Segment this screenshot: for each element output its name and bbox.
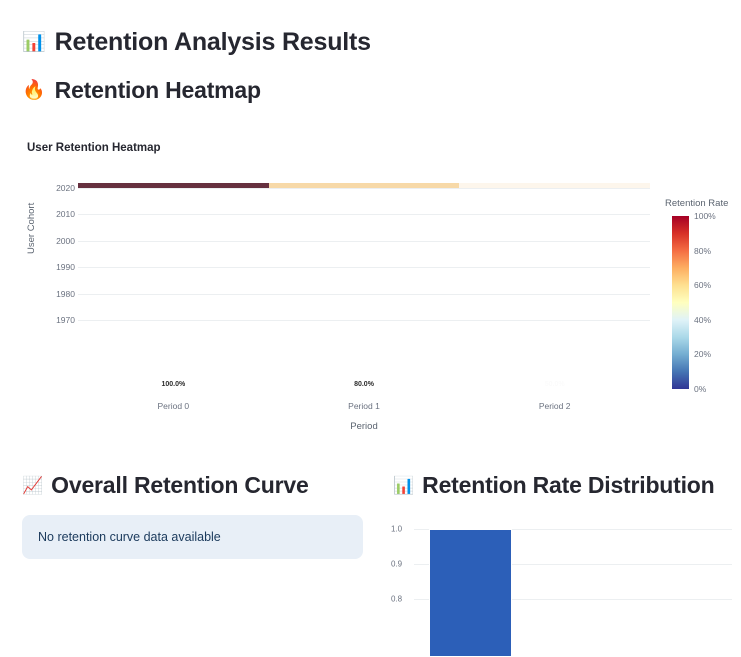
heatmap-gridline xyxy=(78,188,650,189)
heatmap-y-tick: 1990 xyxy=(56,262,75,272)
colorbar-tick: 80% xyxy=(694,246,711,256)
colorbar-title: Retention Rate xyxy=(665,198,728,209)
heatmap-gridline xyxy=(78,241,650,242)
histogram-y-tick: 0.8 xyxy=(391,595,402,604)
empty-message-text: No retention curve data available xyxy=(38,530,221,544)
heatmap-cell xyxy=(78,183,269,188)
heatmap-plot-area xyxy=(78,188,650,320)
heatmap-y-tick: 2000 xyxy=(56,236,75,246)
page-title-row: 📊 Retention Analysis Results xyxy=(0,28,371,57)
heatmap-gridline xyxy=(78,214,650,215)
retention-distribution-section: 📊 Retention Rate Distribution 1.00.90.8 xyxy=(385,472,741,499)
histogram-y-tick: 0.9 xyxy=(391,560,402,569)
distribution-heading: Retention Rate Distribution xyxy=(422,472,714,499)
retention-curve-heading: Overall Retention Curve xyxy=(51,472,308,499)
heatmap-y-tick: 2020 xyxy=(56,183,75,193)
retention-distribution-chart[interactable]: 1.00.90.8 xyxy=(385,512,741,574)
heatmap-cell-value: 80.0% xyxy=(354,381,374,388)
histogram-bar[interactable] xyxy=(429,529,512,657)
distribution-heading-row: 📊 Retention Rate Distribution xyxy=(385,472,741,499)
heatmap-chart-title: User Retention Heatmap xyxy=(27,142,161,154)
heatmap-x-tick: Period 2 xyxy=(539,401,571,411)
fire-icon: 🔥 xyxy=(22,81,46,100)
bar-chart-icon: 📊 xyxy=(393,477,414,494)
heatmap-cell-value: 100.0% xyxy=(161,381,185,388)
retention-curve-section: 📈 Overall Retention Curve No retention c… xyxy=(0,472,385,559)
heatmap-x-tick: Period 0 xyxy=(157,401,189,411)
colorbar-tick: 0% xyxy=(694,384,706,394)
colorbar-tick: 100% xyxy=(694,211,716,221)
retention-curve-empty-message: No retention curve data available xyxy=(22,515,363,559)
retention-curve-heading-row: 📈 Overall Retention Curve xyxy=(0,472,385,499)
colorbar-gradient xyxy=(672,216,689,389)
heatmap-x-tick: Period 1 xyxy=(348,401,380,411)
colorbar-tick: 60% xyxy=(694,280,711,290)
heatmap-y-tick: 1980 xyxy=(56,289,75,299)
heatmap-section-heading: Retention Heatmap xyxy=(55,77,261,104)
retention-heatmap-chart[interactable]: User Retention Heatmap User Cohort Perio… xyxy=(0,132,741,442)
heatmap-y-axis-label: User Cohort xyxy=(26,203,37,254)
heatmap-y-tick: 2010 xyxy=(56,209,75,219)
bar-chart-icon: 📊 xyxy=(22,33,46,52)
colorbar-tick: 20% xyxy=(694,349,711,359)
heatmap-y-tick: 1970 xyxy=(56,315,75,325)
page-title: Retention Analysis Results xyxy=(55,28,371,57)
histogram-y-tick: 1.0 xyxy=(391,525,402,534)
heatmap-gridline xyxy=(78,267,650,268)
heatmap-row xyxy=(78,183,650,188)
heatmap-section-heading-row: 🔥 Retention Heatmap xyxy=(0,77,261,104)
heatmap-gridline xyxy=(78,294,650,295)
heatmap-cell-value: 50.0% xyxy=(545,381,565,388)
heatmap-cell xyxy=(269,183,460,188)
line-chart-icon: 📈 xyxy=(22,477,43,494)
colorbar-tick: 40% xyxy=(694,315,711,325)
heatmap-x-axis-label: Period xyxy=(350,421,377,432)
heatmap-gridline xyxy=(78,320,650,321)
heatmap-cell xyxy=(459,183,650,188)
